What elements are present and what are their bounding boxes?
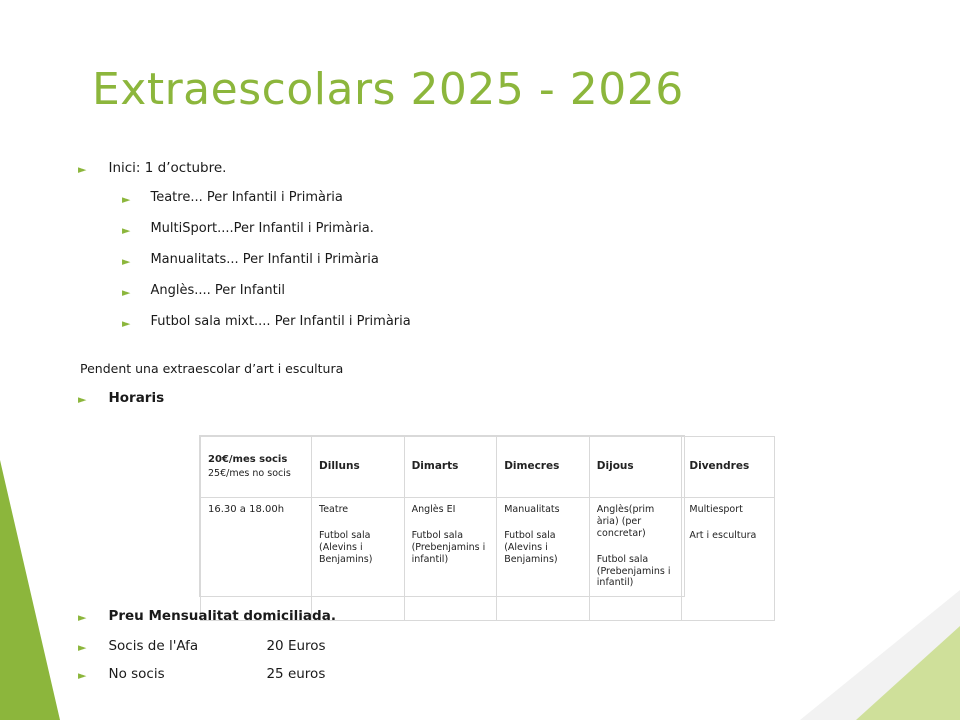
cell-spacer bbox=[689, 516, 767, 530]
cell-dilluns: Teatre Futbol sala (Alevins i Benjamins) bbox=[312, 498, 405, 621]
price-value-socis: 20 Euros bbox=[266, 638, 325, 654]
cell-spacer bbox=[319, 516, 397, 530]
price-value-no-socis: 25 euros bbox=[266, 666, 325, 682]
price-label-no-socis: No socis bbox=[108, 666, 266, 682]
price-section: ► Preu Mensualitat domiciliada. ► Socis … bbox=[0, 608, 960, 694]
cell-dijous: Anglès(prim ària) (per concretar) Futbol… bbox=[589, 498, 682, 621]
cell-dimarts: Anglès EI Futbol sala (Prebenjamins i in… bbox=[404, 498, 497, 621]
bullet-preu: ► Preu Mensualitat domiciliada. bbox=[78, 608, 960, 624]
bullet-inici-label: Inici: 1 d’octubre. bbox=[108, 160, 226, 176]
cell-dimecres: Manualitats Futbol sala (Alevins i Benja… bbox=[497, 498, 590, 621]
bullet-arrow-icon: ► bbox=[122, 225, 130, 236]
activity-label: Teatre... Per Infantil i Primària bbox=[150, 190, 342, 205]
column-header-dimecres: Dimecres bbox=[497, 437, 590, 498]
table-header-row: 20€/mes socis 25€/mes no socis Dilluns D… bbox=[201, 437, 775, 498]
bullet-arrow-icon: ► bbox=[78, 612, 86, 623]
bullet-arrow-icon: ► bbox=[122, 194, 130, 205]
cell-activity-secondary: Futbol sala (Prebenjamins i infantil) bbox=[597, 554, 675, 590]
bullet-inici: ► Inici: 1 d’octubre. bbox=[78, 160, 960, 176]
cell-activity-secondary: Futbol sala (Alevins i Benjamins) bbox=[504, 530, 582, 566]
slide-content: ► Inici: 1 d’octubre. ► Teatre... Per In… bbox=[0, 160, 960, 420]
bullet-arrow-icon: ► bbox=[78, 642, 86, 653]
bullet-horaris: ► Horaris bbox=[78, 390, 960, 406]
cell-spacer bbox=[412, 516, 490, 530]
activity-label: Anglès.... Per Infantil bbox=[150, 283, 284, 298]
cell-activity-secondary: Art i escultura bbox=[689, 530, 767, 542]
cell-activity-primary: Teatre bbox=[319, 504, 397, 516]
price-row-socis: ► Socis de l'Afa20 Euros bbox=[78, 638, 960, 654]
list-item: ► Futbol sala mixt.... Per Infantil i Pr… bbox=[122, 314, 960, 329]
cell-activity-primary: Multiesport bbox=[689, 504, 767, 516]
cell-activity-secondary: Futbol sala (Prebenjamins i infantil) bbox=[412, 530, 490, 566]
bullet-arrow-icon: ► bbox=[78, 164, 86, 175]
activity-label: Manualitats... Per Infantil i Primària bbox=[150, 252, 378, 267]
price-label-socis: Socis de l'Afa bbox=[108, 638, 266, 654]
column-header-dijous: Dijous bbox=[589, 437, 682, 498]
list-item: ► Manualitats... Per Infantil i Primària bbox=[122, 252, 960, 267]
column-header-divendres: Divendres bbox=[682, 437, 775, 498]
activity-label: MultiSport....Per Infantil i Primària. bbox=[150, 221, 373, 236]
cell-divendres: Multiesport Art i escultura bbox=[682, 498, 775, 621]
list-item: ► Anglès.... Per Infantil bbox=[122, 283, 960, 298]
slide: Extraescolars 2025 - 2026 ► Inici: 1 d’o… bbox=[0, 0, 960, 720]
cell-activity-secondary: Futbol sala (Alevins i Benjamins) bbox=[319, 530, 397, 566]
cell-activity-primary: Anglès(prim ària) (per concretar) bbox=[597, 504, 675, 540]
pending-note: Pendent una extraescolar d’art i escultu… bbox=[80, 361, 960, 376]
activity-label: Futbol sala mixt.... Per Infantil i Prim… bbox=[150, 314, 410, 329]
cell-activity-primary: Anglès EI bbox=[412, 504, 490, 516]
horaris-label: Horaris bbox=[108, 390, 164, 406]
bullet-arrow-icon: ► bbox=[78, 670, 86, 681]
corner-line-1: 20€/mes socis bbox=[208, 454, 287, 465]
bullet-arrow-icon: ► bbox=[122, 256, 130, 267]
corner-line-2: 25€/mes no socis bbox=[208, 468, 291, 479]
bullet-arrow-icon: ► bbox=[122, 318, 130, 329]
cell-activity-primary: Manualitats bbox=[504, 504, 582, 516]
time-slot-cell: 16.30 a 18.00h bbox=[201, 498, 312, 621]
column-header-dilluns: Dilluns bbox=[312, 437, 405, 498]
price-corner-cell: 20€/mes socis 25€/mes no socis bbox=[201, 437, 312, 498]
price-heading-label: Preu Mensualitat domiciliada. bbox=[108, 608, 335, 624]
table-row: 16.30 a 18.00h Teatre Futbol sala (Alevi… bbox=[201, 498, 775, 621]
schedule-table: 20€/mes socis 25€/mes no socis Dilluns D… bbox=[199, 435, 685, 597]
cell-spacer bbox=[504, 516, 582, 530]
column-header-dimarts: Dimarts bbox=[404, 437, 497, 498]
bullet-arrow-icon: ► bbox=[78, 394, 86, 405]
bullet-arrow-icon: ► bbox=[122, 287, 130, 298]
page-title: Extraescolars 2025 - 2026 bbox=[92, 64, 684, 115]
cell-spacer bbox=[597, 540, 675, 554]
price-row-no-socis: ► No socis25 euros bbox=[78, 666, 960, 682]
list-item: ► MultiSport....Per Infantil i Primària. bbox=[122, 221, 960, 236]
list-item: ► Teatre... Per Infantil i Primària bbox=[122, 190, 960, 205]
